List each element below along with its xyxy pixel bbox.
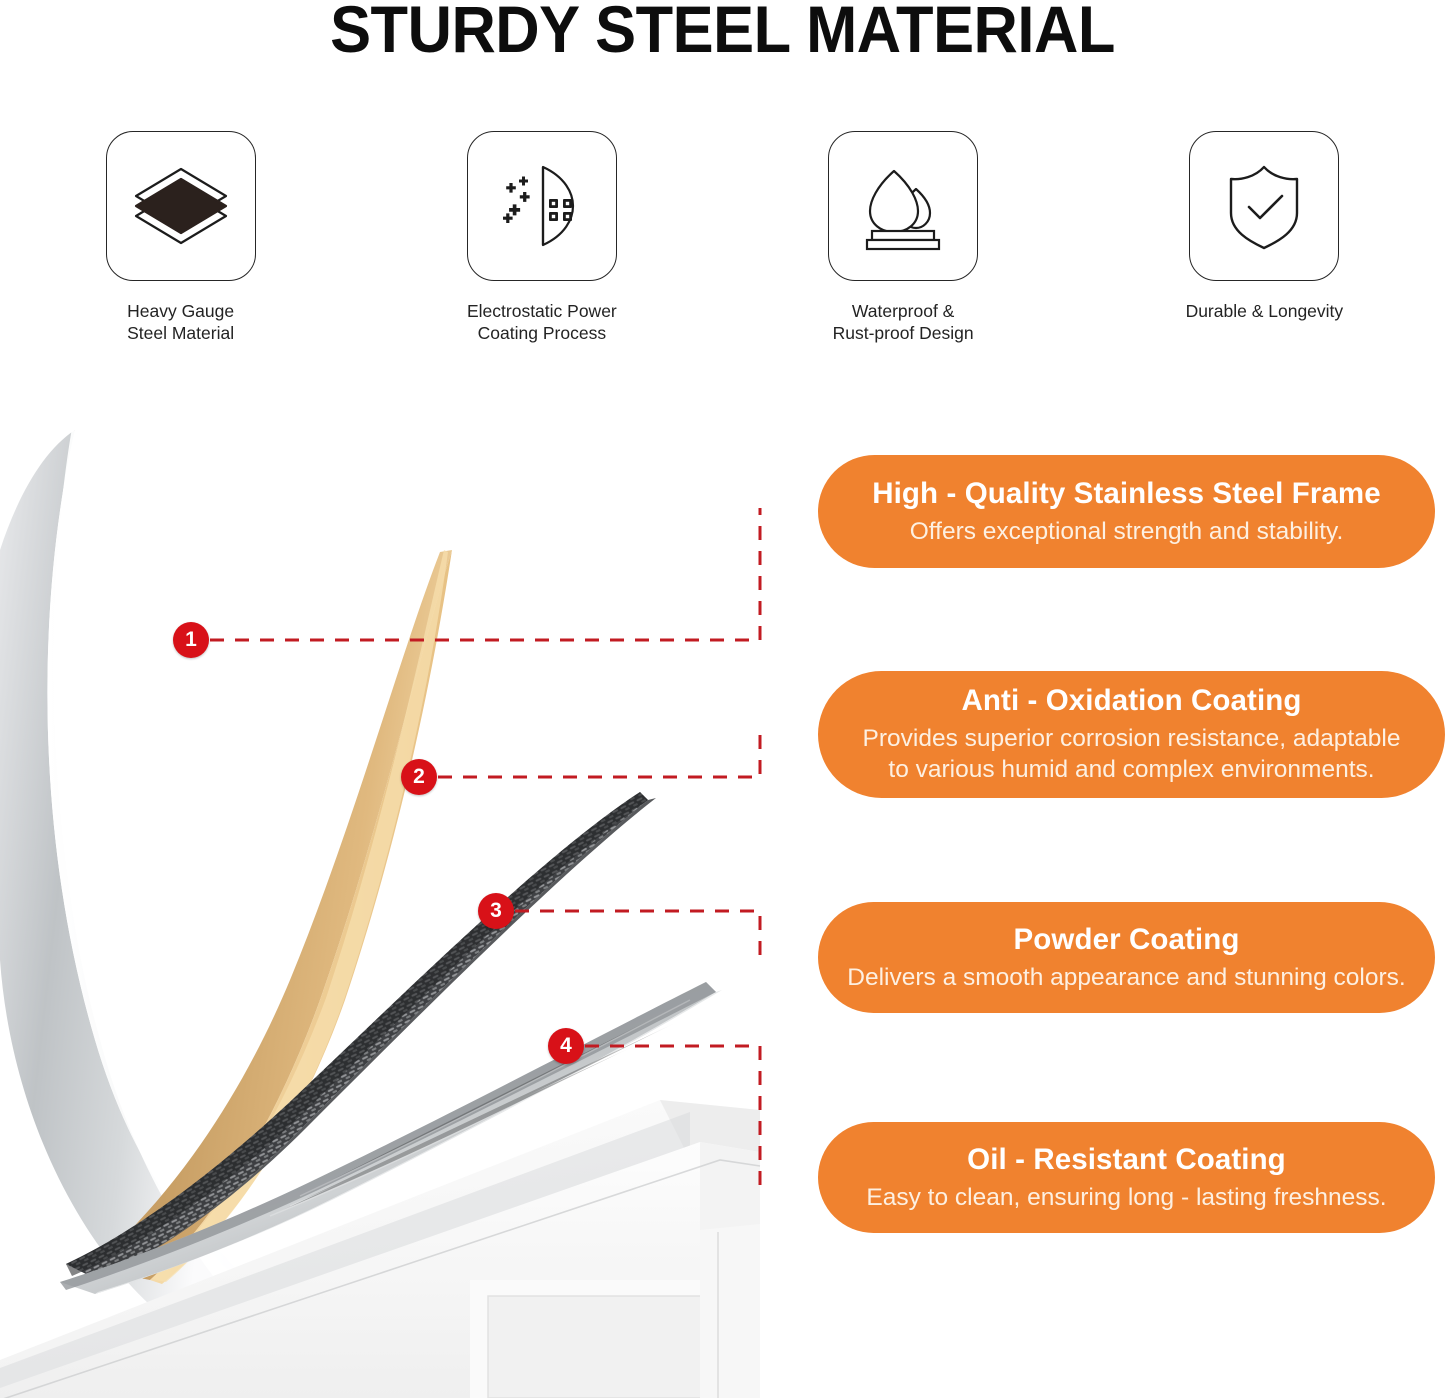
callout-badge-3[interactable]: 3 (478, 893, 514, 929)
callout-card-4[interactable]: Oil - Resistant Coating Easy to clean, e… (818, 1122, 1435, 1233)
page-title: STURDY STEEL MATERIAL (51, 0, 1395, 63)
callout-badge-4[interactable]: 4 (548, 1028, 584, 1064)
callout-badge-2[interactable]: 2 (401, 759, 437, 795)
exploded-layers-illustration (0, 400, 820, 1398)
product-infographic: STURDY STEEL MATERIAL Heavy Gauge Steel … (0, 0, 1445, 1398)
callout-card-3[interactable]: Powder Coating Delivers a smooth appeara… (818, 902, 1435, 1013)
icon-box (1189, 131, 1339, 281)
callout-card-1[interactable]: High - Quality Stainless Steel Frame Off… (818, 455, 1435, 568)
callout-description: Provides superior corrosion resistance, … (852, 724, 1412, 785)
feature-label: Durable & Longevity (1186, 300, 1344, 322)
callout-title: Powder Coating (1014, 922, 1240, 958)
icon-box (106, 131, 256, 281)
stacked-layers-icon (126, 151, 236, 261)
callout-description: Delivers a smooth appearance and stunnin… (847, 963, 1405, 994)
icon-box (467, 131, 617, 281)
feature-item-durable: Durable & Longevity (1084, 131, 1445, 344)
feature-item-electrostatic: Electrostatic Power Coating Process (361, 131, 722, 344)
callout-title: Oil - Resistant Coating (967, 1142, 1286, 1178)
feature-label: Waterproof & Rust-proof Design (833, 300, 974, 344)
electrostatic-spray-icon (487, 151, 597, 261)
shield-check-icon (1209, 151, 1319, 261)
layers-graphic (0, 400, 820, 1398)
callout-title: Anti - Oxidation Coating (962, 683, 1302, 719)
feature-label: Heavy Gauge Steel Material (127, 300, 234, 344)
feature-item-waterproof: Waterproof & Rust-proof Design (723, 131, 1084, 344)
feature-item-heavy-gauge: Heavy Gauge Steel Material (0, 131, 361, 344)
callout-title: High - Quality Stainless Steel Frame (872, 476, 1381, 512)
callout-description: Easy to clean, ensuring long - lasting f… (866, 1183, 1386, 1214)
icon-box (828, 131, 978, 281)
callout-description: Offers exceptional strength and stabilit… (910, 517, 1344, 548)
callout-card-2[interactable]: Anti - Oxidation Coating Provides superi… (818, 671, 1445, 798)
feature-label: Electrostatic Power Coating Process (467, 300, 617, 344)
feature-icon-row: Heavy Gauge Steel Material (0, 131, 1445, 344)
water-droplets-icon (848, 151, 958, 261)
callout-badge-1[interactable]: 1 (173, 622, 209, 658)
